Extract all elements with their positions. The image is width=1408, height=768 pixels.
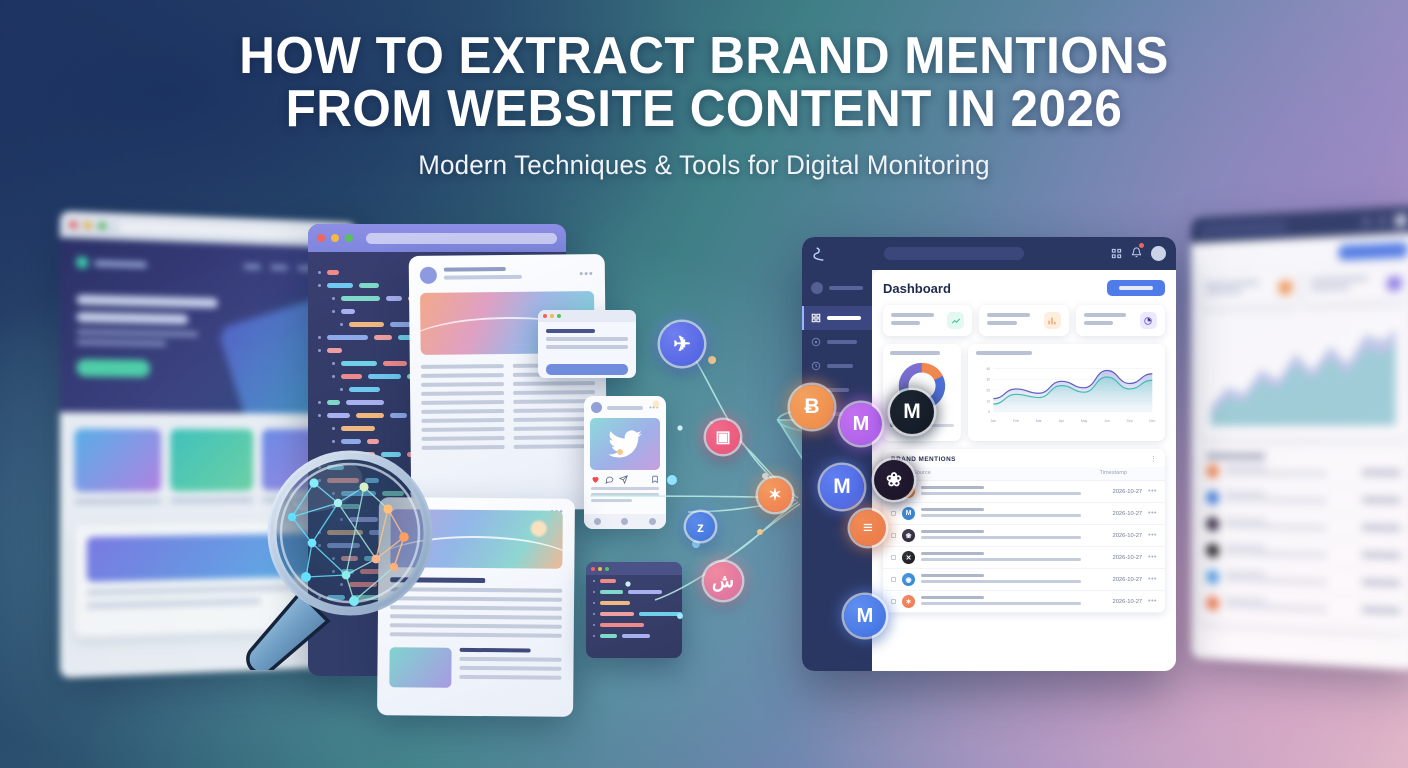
- analytics-browser-window: [1191, 206, 1408, 671]
- sidebar-profile[interactable]: [802, 282, 872, 306]
- close-icon: [69, 221, 77, 230]
- chart-x-ticks: JanFebMarAprMayJunSepDec: [991, 419, 1156, 423]
- svg-text:Apr: Apr: [1059, 419, 1065, 423]
- svg-text:Dec: Dec: [1149, 419, 1155, 423]
- row-checkbox[interactable]: [891, 533, 896, 538]
- dashboard-title: Dashboard: [883, 281, 951, 296]
- notification-badge: [1139, 243, 1144, 248]
- primary-action-button[interactable]: [1107, 280, 1165, 296]
- row-timestamp: 2026-10-27: [1112, 577, 1142, 583]
- close-icon: [317, 234, 325, 242]
- row-text-placeholder: [921, 552, 1106, 564]
- minimize-icon: [550, 314, 554, 318]
- svg-text:Jan: Jan: [991, 419, 997, 423]
- svg-text:20: 20: [986, 389, 990, 393]
- table-row: [1206, 459, 1400, 488]
- column-header-timestamp: Timestamp: [1100, 470, 1127, 476]
- reddit-icon: ◉: [902, 573, 915, 586]
- clock-icon: [811, 361, 821, 371]
- monday-m-icon[interactable]: M: [820, 465, 864, 509]
- dashboard-grid-icon: [811, 313, 821, 323]
- bell-icon: [1378, 216, 1387, 226]
- row-checkbox[interactable]: [891, 511, 896, 516]
- kebab-menu-icon: •••: [579, 268, 594, 280]
- title-line-2: FROM WEBSITE CONTENT IN 2026: [35, 83, 1373, 136]
- title-line-1: HOW TO EXTRACT BRAND MENTIONS: [239, 27, 1168, 85]
- gmail-m-icon[interactable]: M: [840, 403, 882, 445]
- area-chart-card: 010203040 JanFebMarAprMayJunSepDec: [968, 344, 1165, 441]
- svg-text:10: 10: [986, 399, 990, 403]
- row-checkbox[interactable]: [891, 555, 896, 560]
- maximize-icon: [98, 222, 106, 230]
- search-input[interactable]: [884, 247, 1024, 260]
- bar-chart-icon: [1044, 312, 1061, 329]
- dashboard-header: Dashboard: [883, 280, 1165, 296]
- row-checkbox[interactable]: [891, 577, 896, 582]
- chart-y-ticks: 010203040: [986, 367, 990, 414]
- magnifying-glass-network-graph: [228, 425, 458, 670]
- dashboard-topbar: [802, 237, 1176, 270]
- dark-app-icon[interactable]: ❀: [874, 460, 914, 500]
- hero-cta-button: [76, 359, 150, 377]
- globe-net-icon: ✶: [902, 595, 915, 608]
- grid-icon: [1362, 217, 1371, 227]
- row-timestamp: 2026-10-27: [1112, 511, 1142, 517]
- row-timestamp: 2026-10-27: [1112, 533, 1142, 539]
- row-text-placeholder: [921, 596, 1106, 608]
- table-row[interactable]: Ƀ2026-10-27•••: [883, 481, 1165, 503]
- chart-series: [993, 370, 1152, 411]
- zoom-z-icon[interactable]: z: [686, 512, 715, 541]
- row-menu-icon[interactable]: •••: [1148, 554, 1157, 561]
- row-checkbox[interactable]: [891, 599, 896, 604]
- stat-card-row: [1200, 266, 1408, 308]
- grid-icon[interactable]: [1111, 248, 1122, 259]
- x-twitter-icon: ✕: [902, 551, 915, 564]
- close-icon: [543, 314, 547, 318]
- area-chart-card: [1200, 310, 1408, 438]
- table-row[interactable]: ✕2026-10-27•••: [883, 547, 1165, 569]
- row-menu-icon[interactable]: •••: [1148, 532, 1157, 539]
- feature-card: [74, 429, 160, 493]
- table-row[interactable]: ◉2026-10-27•••: [883, 569, 1165, 591]
- stat-card[interactable]: [1076, 305, 1165, 336]
- table-header: BRAND MENTIONS ⋮: [883, 449, 1165, 467]
- page-title: HOW TO EXTRACT BRAND MENTIONS FROM WEBSI…: [0, 30, 1408, 181]
- row-menu-icon[interactable]: •••: [1148, 576, 1157, 583]
- mail-m-icon[interactable]: M: [844, 595, 886, 637]
- table-row[interactable]: ✶2026-10-27•••: [883, 591, 1165, 613]
- row-timestamp: 2026-10-27: [1112, 555, 1142, 561]
- stat-card: [1304, 266, 1407, 304]
- subtitle: Modern Techniques & Tools for Digital Mo…: [28, 150, 1380, 181]
- svg-text:40: 40: [986, 367, 990, 371]
- dark-app-icon: ❀: [902, 529, 915, 542]
- avatar: [1394, 213, 1407, 227]
- area-chart: 010203040 JanFebMarAprMayJunSepDec: [976, 355, 1157, 429]
- svg-text:Jun: Jun: [1104, 419, 1110, 423]
- telegram-icon[interactable]: ✈: [660, 322, 704, 366]
- medium-m-icon[interactable]: M: [890, 390, 934, 434]
- stripe-icon[interactable]: ≡: [850, 510, 886, 546]
- brand-mentions-table: BRAND MENTIONS ⋮ Source Timestamp Ƀ2026-…: [883, 449, 1165, 613]
- editor-title-bar: [308, 224, 566, 252]
- bell-icon[interactable]: [1131, 245, 1142, 263]
- maximize-icon: [345, 234, 353, 242]
- stat-card[interactable]: [883, 305, 972, 336]
- svg-text:May: May: [1081, 419, 1088, 423]
- avatar[interactable]: [1151, 246, 1166, 261]
- brand-logo-icon[interactable]: [812, 246, 828, 262]
- row-text-placeholder: [921, 508, 1106, 520]
- trend-up-icon: [947, 312, 964, 329]
- avatar: [420, 267, 437, 284]
- minimize-icon: [84, 221, 92, 229]
- brand-mentions-table: [1200, 447, 1408, 633]
- sidebar-item-dashboard[interactable]: [802, 306, 872, 330]
- sidebar-item-history[interactable]: [802, 354, 872, 378]
- pie-chart-icon: [1140, 312, 1157, 329]
- card-title-placeholder: [890, 351, 940, 355]
- svg-text:Mar: Mar: [1036, 419, 1043, 423]
- svg-text:30: 30: [986, 378, 990, 382]
- table-body: Ƀ2026-10-27•••M2026-10-27•••❀2026-10-27•…: [883, 481, 1165, 613]
- row-text-placeholder: [921, 486, 1106, 498]
- svg-text:Feb: Feb: [1013, 419, 1019, 423]
- document-title-lines: [444, 266, 522, 283]
- title-heading: HOW TO EXTRACT BRAND MENTIONS FROM WEBSI…: [35, 30, 1373, 136]
- bitcoin-icon[interactable]: Ƀ: [790, 385, 834, 429]
- table-row[interactable]: ❀2026-10-27•••: [883, 525, 1165, 547]
- network-icon[interactable]: ✶: [758, 478, 792, 512]
- script-icon[interactable]: ش: [704, 562, 742, 600]
- dashboard-main: Dashboard: [872, 270, 1176, 671]
- table-column-headers: Source Timestamp: [883, 467, 1165, 481]
- svg-text:0: 0: [988, 410, 990, 414]
- table-row: [1206, 485, 1400, 515]
- document-header: •••: [409, 254, 605, 284]
- row-menu-icon[interactable]: •••: [1148, 598, 1157, 605]
- kebab-menu-icon[interactable]: ⋮: [1150, 455, 1157, 463]
- stat-card[interactable]: [979, 305, 1068, 336]
- sidebar-item-targets[interactable]: [802, 330, 872, 354]
- row-menu-icon[interactable]: •••: [1148, 488, 1157, 495]
- medium-m-icon: M: [902, 507, 915, 520]
- flow-lines: [590, 326, 800, 600]
- table-row[interactable]: M2026-10-27•••: [883, 503, 1165, 525]
- minimize-icon: [331, 234, 339, 242]
- row-menu-icon[interactable]: •••: [1148, 510, 1157, 517]
- instagram-icon[interactable]: ▣: [706, 420, 740, 454]
- row-timestamp: 2026-10-27: [1112, 599, 1142, 605]
- stat-card-row: [883, 305, 1165, 336]
- target-icon: [811, 337, 821, 347]
- row-text-placeholder: [921, 574, 1106, 586]
- stat-card: [1200, 270, 1298, 307]
- column-header-source: Source: [913, 470, 931, 476]
- row-timestamp: 2026-10-27: [1112, 489, 1142, 495]
- row-text-placeholder: [921, 530, 1106, 542]
- svg-text:Sep: Sep: [1126, 419, 1132, 423]
- editor-path-bar: [366, 233, 557, 244]
- primary-action-button: [1339, 242, 1408, 260]
